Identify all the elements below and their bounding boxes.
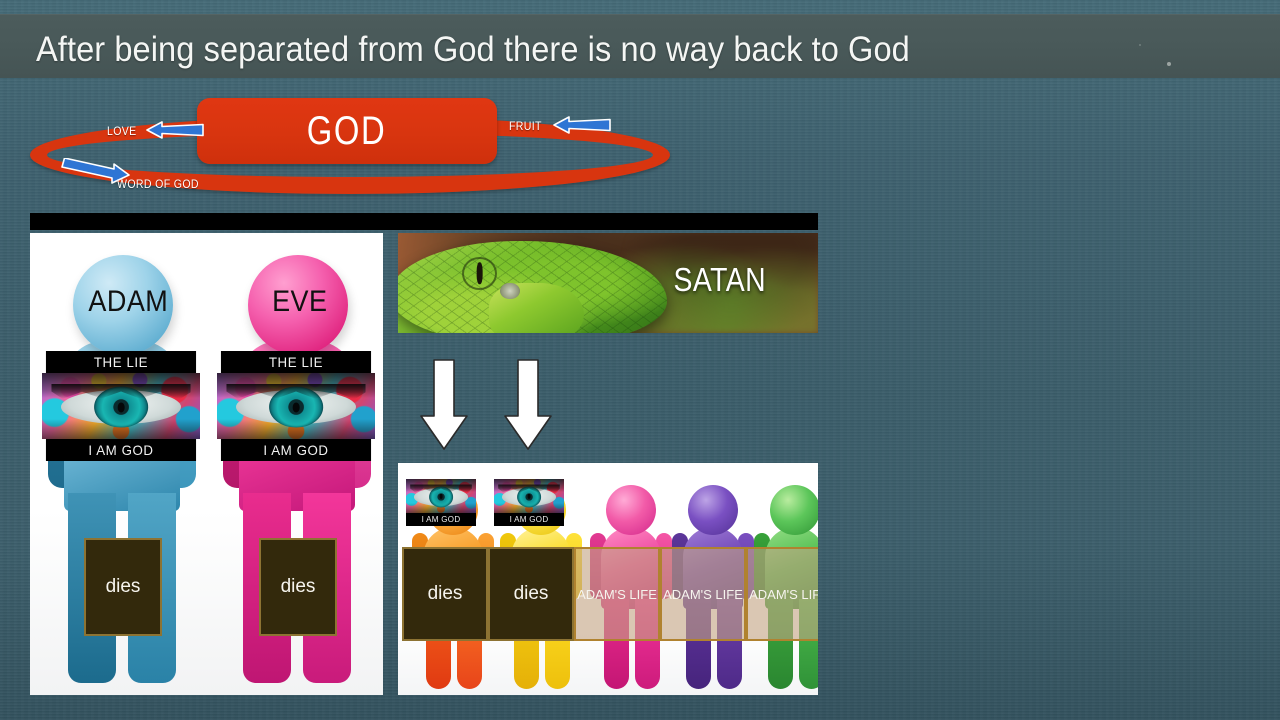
eye-image [217,373,375,439]
lie-bottom-label: I AM GOD [221,439,371,461]
cycle-label-love: LOVE [107,124,137,138]
snake-nostril [500,283,519,300]
outcome-box-green: ADAM'S LIFE [746,547,818,641]
outcome-box-pink: ADAM'S LIFE [574,547,660,641]
god-cycle-diagram: GOD LOVE FRUIT WORD OF GOD [22,94,682,204]
lie-card-adam: THE LIE I AM GOD [42,351,200,461]
speck [1139,44,1141,46]
outcome-box-orange: dies [402,547,488,641]
cycle-label-fruit: FRUIT [509,119,542,133]
lie-card-orange: I AM GOD [406,479,476,526]
down-arrow-icon [418,358,470,452]
outcome-box-text: ADAM'S LIFE [749,587,818,602]
lie-bottom-label: I AM GOD [494,513,564,526]
lie-top-label: THE LIE [221,351,371,373]
eye-image [406,479,476,513]
left-arrow-icon [144,120,206,140]
cycle-label-word-of-god: WORD OF GOD [117,177,199,191]
lie-card-yellow: I AM GOD [494,479,564,526]
outcome-box-yellow: dies [488,547,574,641]
eye-image [42,373,200,439]
left-arrow-icon [550,115,614,135]
figure-name-adam: ADAM [88,285,168,319]
down-arrows-group [418,358,568,458]
outcome-box-text: ADAM'S LIFE [663,587,743,602]
adam-eve-panel: ADAM THE LIE I AM GOD dies EVE THE LIE [30,233,383,695]
slide-canvas: After being separated from God there is … [0,0,1280,720]
outcome-box-text: ADAM'S LIFE [577,587,657,602]
outcome-box-eve: dies [259,538,337,636]
snake-eye [464,259,494,288]
figure-name-eve: EVE [272,285,327,319]
god-box: GOD [197,98,497,164]
satan-panel: SATAN [398,233,818,333]
page-title: After being separated from God there is … [36,30,910,70]
down-arrow-icon [502,358,554,452]
outcome-box-purple: ADAM'S LIFE [660,547,746,641]
outcomes-panel: I AM GOD I AM GOD [398,463,818,695]
title-band: After being separated from God there is … [0,14,1280,78]
eye-image [494,479,564,513]
satan-label: SATAN [674,261,767,299]
lie-bottom-label: I AM GOD [46,439,196,461]
lie-card-eve: THE LIE I AM GOD [217,351,375,461]
god-label: GOD [307,109,387,154]
lie-bottom-label: I AM GOD [406,513,476,526]
outcome-box-adam: dies [84,538,162,636]
lie-top-label: THE LIE [46,351,196,373]
speck [1167,62,1171,66]
divider-bar [30,213,818,230]
